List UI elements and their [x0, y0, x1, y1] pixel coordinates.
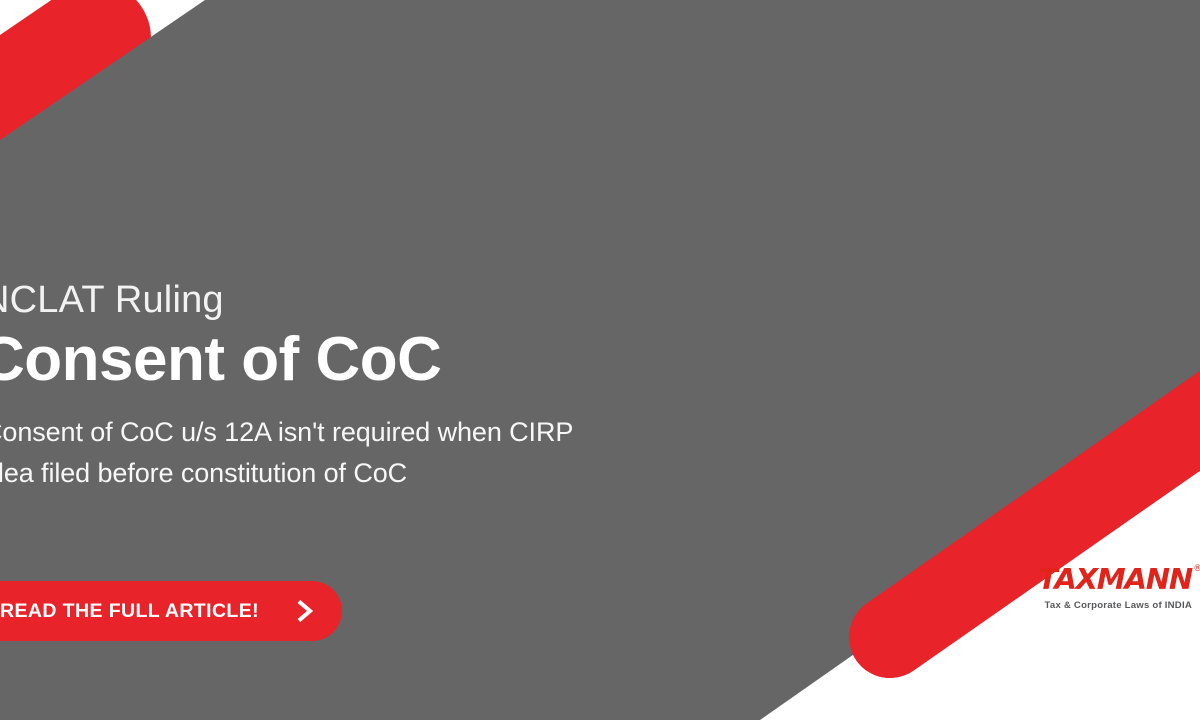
registered-trademark-icon: ® [1194, 564, 1200, 573]
read-full-article-label: READ THE FULL ARTICLE! [0, 600, 259, 623]
read-full-article-button[interactable]: READ THE FULL ARTICLE! [0, 581, 342, 641]
page-title: Consent of CoC [0, 327, 441, 392]
promo-banner: NCLAT Ruling Consent of CoC Consent of C… [0, 0, 1200, 720]
subheadline-line-1: Consent of CoC u/s 12A isn't required wh… [0, 412, 603, 453]
banner-content: NCLAT Ruling Consent of CoC Consent of C… [0, 0, 1200, 720]
logo-wordmark: TAXMANN [1038, 566, 1192, 595]
logo-tagline: Tax & Corporate Laws of INDIA [1032, 600, 1192, 611]
subheadline-line-2: plea filed before constitution of CoC [0, 453, 603, 494]
taxmann-logo[interactable]: TAXMANN ® Tax & Corporate Laws of INDIA [1032, 566, 1192, 611]
eyebrow-label: NCLAT Ruling [0, 281, 224, 319]
subheadline: Consent of CoC u/s 12A isn't required wh… [0, 412, 603, 494]
chevron-right-icon [294, 600, 316, 622]
logo-wordmark-wrap: TAXMANN ® [1041, 566, 1192, 595]
